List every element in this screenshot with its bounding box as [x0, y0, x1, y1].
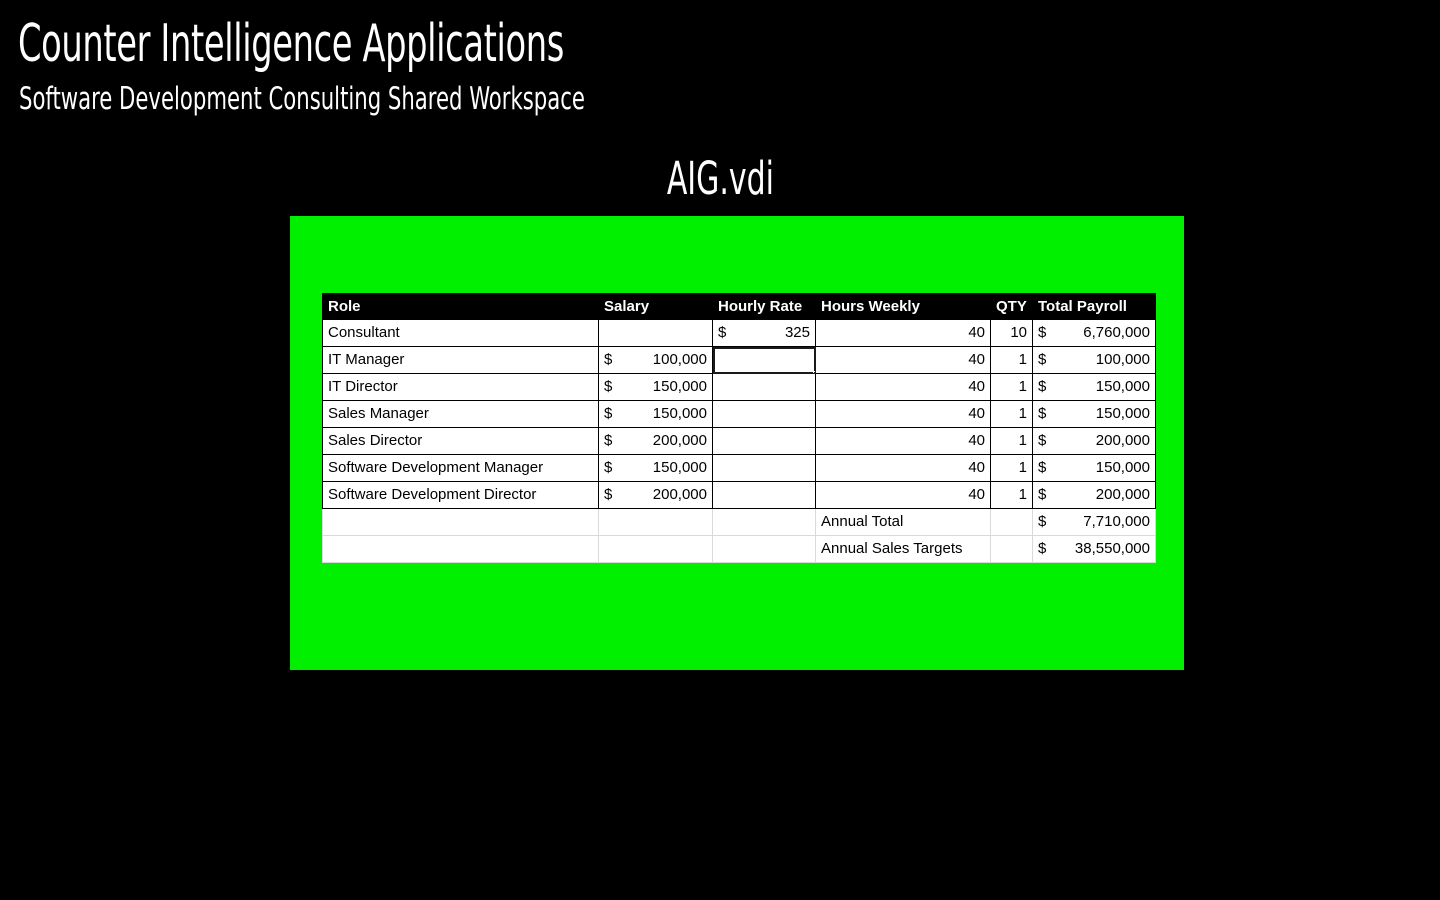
cell-salary[interactable]: $ 200,000: [599, 428, 713, 455]
cell-hourly-rate[interactable]: [713, 401, 816, 428]
cell-total-payroll[interactable]: $ 100,000: [1033, 347, 1156, 374]
cell-summary-label[interactable]: Annual Sales Targets: [816, 536, 991, 563]
currency-amount: 200,000: [1096, 428, 1150, 454]
table-row[interactable]: Consultant $ 325 40 10 $ 6,760,000: [323, 320, 1156, 347]
table-header-row: Role Salary Hourly Rate Hours Weekly QTY…: [323, 294, 1156, 320]
currency-symbol: $: [604, 401, 616, 427]
currency-amount: 38,550,000: [1075, 536, 1150, 562]
cell-total-payroll[interactable]: $ 200,000: [1033, 428, 1156, 455]
cell-hours-weekly[interactable]: 40: [816, 320, 991, 347]
cell-role[interactable]: Sales Manager: [323, 401, 599, 428]
currency-symbol: $: [1038, 536, 1050, 562]
currency-amount: 150,000: [1096, 455, 1150, 481]
cell-qty[interactable]: 10: [991, 320, 1033, 347]
cell-hourly-rate[interactable]: [713, 482, 816, 509]
cell-blank[interactable]: [599, 536, 713, 563]
currency-symbol: $: [1038, 482, 1050, 508]
cell-salary[interactable]: $ 150,000: [599, 374, 713, 401]
cell-blank[interactable]: [991, 509, 1033, 536]
currency-symbol: $: [1038, 509, 1050, 535]
cell-hours-weekly[interactable]: 40: [816, 347, 991, 374]
cell-role[interactable]: Software Development Manager: [323, 455, 599, 482]
table-row[interactable]: IT Director $ 150,000 40 1 $ 150,000: [323, 374, 1156, 401]
cell-total-payroll[interactable]: $ 150,000: [1033, 455, 1156, 482]
table-row[interactable]: Software Development Manager $ 150,000 4…: [323, 455, 1156, 482]
cell-salary[interactable]: $ 100,000: [599, 347, 713, 374]
cell-role[interactable]: IT Director: [323, 374, 599, 401]
currency-amount: 7,710,000: [1083, 509, 1150, 535]
cell-summary-total[interactable]: $ 7,710,000: [1033, 509, 1156, 536]
cell-hours-weekly[interactable]: 40: [816, 482, 991, 509]
currency-amount: 200,000: [653, 482, 707, 508]
currency-amount: 200,000: [653, 428, 707, 454]
currency-amount: 200,000: [1096, 482, 1150, 508]
summary-row[interactable]: Annual Total $ 7,710,000: [323, 509, 1156, 536]
fill-handle[interactable]: [813, 371, 816, 374]
cell-total-payroll[interactable]: $ 150,000: [1033, 374, 1156, 401]
cell-hourly-rate[interactable]: [713, 455, 816, 482]
cell-summary-total[interactable]: $ 38,550,000: [1033, 536, 1156, 563]
currency-symbol: $: [1038, 455, 1050, 481]
object-label: AIG.vdi: [0, 152, 1440, 206]
cell-total-payroll[interactable]: $ 200,000: [1033, 482, 1156, 509]
table-row[interactable]: IT Manager $ 100,000 40 1 $: [323, 347, 1156, 374]
currency-amount: 6,760,000: [1083, 320, 1150, 346]
currency-symbol: $: [1038, 320, 1050, 346]
summary-row[interactable]: Annual Sales Targets $ 38,550,000: [323, 536, 1156, 563]
payroll-table[interactable]: Role Salary Hourly Rate Hours Weekly QTY…: [322, 293, 1156, 563]
cell-hours-weekly[interactable]: 40: [816, 374, 991, 401]
cell-total-payroll[interactable]: $ 6,760,000: [1033, 320, 1156, 347]
cell-role[interactable]: Software Development Director: [323, 482, 599, 509]
currency-amount: 150,000: [1096, 374, 1150, 400]
cell-qty[interactable]: 1: [991, 455, 1033, 482]
cell-summary-label[interactable]: Annual Total: [816, 509, 991, 536]
currency-symbol: $: [1038, 401, 1050, 427]
cell-hourly-rate[interactable]: [713, 374, 816, 401]
cell-hours-weekly[interactable]: 40: [816, 428, 991, 455]
cell-blank[interactable]: [323, 536, 599, 563]
currency-amount: 150,000: [653, 455, 707, 481]
cell-role[interactable]: IT Manager: [323, 347, 599, 374]
cell-salary[interactable]: $ 150,000: [599, 455, 713, 482]
table-row[interactable]: Sales Director $ 200,000 40 1 $ 200,000: [323, 428, 1156, 455]
cell-blank[interactable]: [713, 536, 816, 563]
cell-salary[interactable]: $ 200,000: [599, 482, 713, 509]
currency-amount: 150,000: [1096, 401, 1150, 427]
cell-qty[interactable]: 1: [991, 401, 1033, 428]
currency-symbol: $: [718, 320, 730, 346]
currency-symbol: $: [1038, 347, 1050, 373]
cell-qty[interactable]: 1: [991, 482, 1033, 509]
cell-blank[interactable]: [323, 509, 599, 536]
cell-blank[interactable]: [713, 509, 816, 536]
column-header-salary[interactable]: Salary: [599, 294, 713, 320]
currency-amount: 150,000: [653, 401, 707, 427]
column-header-role[interactable]: Role: [323, 294, 599, 320]
currency-amount: 100,000: [653, 347, 707, 373]
currency-symbol: $: [604, 428, 616, 454]
cell-blank[interactable]: [991, 536, 1033, 563]
cell-blank[interactable]: [599, 509, 713, 536]
currency-symbol: $: [1038, 374, 1050, 400]
table-row[interactable]: Sales Manager $ 150,000 40 1 $ 150,000: [323, 401, 1156, 428]
currency-amount: 325: [785, 320, 810, 346]
cell-role[interactable]: Consultant: [323, 320, 599, 347]
currency-amount: 150,000: [653, 374, 707, 400]
object-label-text: AIG.vdi: [666, 152, 773, 206]
currency-symbol: $: [604, 455, 616, 481]
cell-hours-weekly[interactable]: 40: [816, 401, 991, 428]
cell-total-payroll[interactable]: $ 150,000: [1033, 401, 1156, 428]
column-header-qty[interactable]: QTY: [991, 294, 1033, 320]
currency-symbol: $: [604, 374, 616, 400]
spreadsheet-object[interactable]: Role Salary Hourly Rate Hours Weekly QTY…: [322, 293, 1155, 563]
column-header-hourly-rate[interactable]: Hourly Rate: [713, 294, 816, 320]
page-subtitle: Software Development Consulting Shared W…: [19, 80, 585, 118]
column-header-total-payroll[interactable]: Total Payroll: [1033, 294, 1156, 320]
cell-salary[interactable]: [599, 320, 713, 347]
cell-qty[interactable]: 1: [991, 428, 1033, 455]
cell-hourly-rate[interactable]: $ 325: [713, 320, 816, 347]
currency-symbol: $: [604, 482, 616, 508]
currency-symbol: $: [604, 347, 616, 373]
cell-hourly-rate-selected[interactable]: [713, 347, 816, 374]
cell-salary[interactable]: $ 150,000: [599, 401, 713, 428]
cell-qty[interactable]: 1: [991, 347, 1033, 374]
table-row[interactable]: Software Development Director $ 200,000 …: [323, 482, 1156, 509]
cell-role[interactable]: Sales Director: [323, 428, 599, 455]
cell-qty[interactable]: 1: [991, 374, 1033, 401]
cell-hours-weekly[interactable]: 40: [816, 455, 991, 482]
column-header-hours-weekly[interactable]: Hours Weekly: [816, 294, 991, 320]
cell-hourly-rate[interactable]: [713, 428, 816, 455]
currency-amount: 100,000: [1096, 347, 1150, 373]
currency-symbol: $: [1038, 428, 1050, 454]
page-title: Counter Intelligence Applications: [18, 14, 564, 74]
